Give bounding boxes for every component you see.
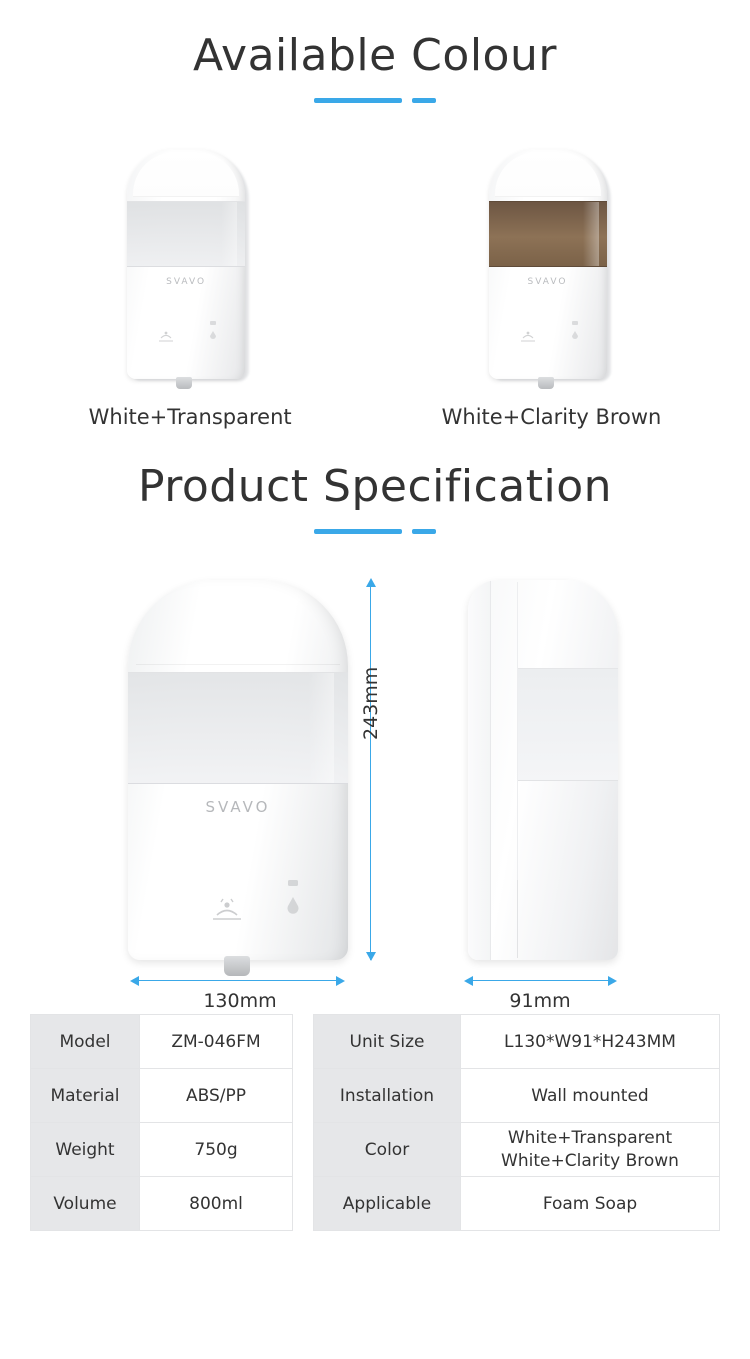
table-cell-key: Material [31, 1069, 140, 1123]
colour-variant-white-clarity-brown: SVAVO White+Clarity Brown [442, 149, 662, 429]
window-gloss [308, 673, 334, 783]
brand-logo-text: SVAVO [489, 277, 607, 287]
height-dimension-line [370, 582, 371, 960]
height-dimension-label: 243mm [360, 667, 382, 740]
colour-caption: White+Clarity Brown [442, 405, 662, 429]
brand-logo-text: SVAVO [127, 277, 245, 287]
table-cell-key: Weight [31, 1123, 140, 1177]
led-indicator-icon [286, 880, 300, 922]
specification-tables: Model ZM-046FM Material ABS/PP Weight 75… [0, 1014, 750, 1231]
dispenser-nozzle [176, 377, 192, 389]
available-colour-section: Available Colour SVAVO [0, 0, 750, 429]
led-indicator-icon [571, 321, 579, 343]
table-cell-key: Model [31, 1015, 140, 1069]
dispenser-image-white-clarity-brown: SVAVO [487, 149, 617, 385]
table-row: Weight 750g [31, 1123, 293, 1177]
table-row: Color White+Transparent White+Clarity Br… [314, 1123, 720, 1177]
underline-long-bar [314, 98, 402, 103]
side-window-panel [518, 668, 618, 780]
dispenser-top-cap [495, 152, 601, 197]
arrow-left-icon [464, 976, 473, 986]
table-cell-value: ABS/PP [140, 1069, 293, 1123]
dispenser-top-cap [136, 584, 340, 665]
front-width-dimension-line [134, 980, 340, 981]
table-cell-key: Applicable [314, 1177, 461, 1231]
dispenser-nozzle [224, 956, 250, 976]
side-seam-top [518, 668, 618, 669]
table-row: Applicable Foam Soap [314, 1177, 720, 1231]
color-option-2: White+Clarity Brown [467, 1150, 713, 1173]
page-title-available-colour: Available Colour [0, 34, 750, 78]
table-cell-key: Unit Size [314, 1015, 461, 1069]
front-width-dimension-label: 130mm [150, 990, 330, 1012]
table-cell-value: 800ml [140, 1177, 293, 1231]
table-cell-key: Installation [314, 1069, 461, 1123]
spec-table-left: Model ZM-046FM Material ABS/PP Weight 75… [30, 1014, 293, 1231]
dispenser-top-cap [133, 152, 239, 197]
title-underline-colour [0, 98, 750, 103]
dispenser-body-side [468, 580, 618, 960]
table-row: Material ABS/PP [31, 1069, 293, 1123]
dispenser-body: SVAVO [489, 149, 607, 379]
product-specification-section: Product Specification SVAVO [0, 429, 750, 1231]
table-cell-value: 750g [140, 1123, 293, 1177]
dispenser-window [489, 201, 607, 267]
table-cell-value-multiline: White+Transparent White+Clarity Brown [461, 1123, 720, 1177]
side-width-dimension-label: 91mm [470, 990, 610, 1012]
title-underline-spec [0, 529, 750, 534]
arrow-up-icon [366, 578, 376, 587]
page-title-product-specification: Product Specification [0, 465, 750, 509]
table-row: Unit Size L130*W91*H243MM [314, 1015, 720, 1069]
table-cell-value: ZM-046FM [140, 1015, 293, 1069]
underline-short-bar [412, 529, 436, 534]
underline-short-bar [412, 98, 436, 103]
hand-sensor-icon [210, 896, 244, 930]
table-row: Volume 800ml [31, 1177, 293, 1231]
arrow-left-icon [130, 976, 139, 986]
dispenser-nozzle [538, 377, 554, 389]
window-gloss [221, 202, 237, 266]
arrow-right-icon [608, 976, 617, 986]
table-cell-value: Wall mounted [461, 1069, 720, 1123]
color-option-1: White+Transparent [467, 1127, 713, 1150]
hand-sensor-icon [519, 329, 537, 345]
spec-drawing-area: SVAVO 243mm [0, 568, 750, 1008]
window-gloss [583, 202, 599, 266]
table-cell-value: L130*W91*H243MM [461, 1015, 720, 1069]
table-cell-key: Volume [31, 1177, 140, 1231]
colour-variant-row: SVAVO White+Transparent SVAVO [0, 149, 750, 429]
table-cell-value: Foam Soap [461, 1177, 720, 1231]
dispenser-side-view [468, 580, 618, 970]
side-seam-lower [517, 880, 518, 958]
underline-long-bar [314, 529, 402, 534]
table-row: Installation Wall mounted [314, 1069, 720, 1123]
hand-sensor-icon [157, 329, 175, 345]
led-indicator-icon [209, 321, 217, 343]
dispenser-body: SVAVO [127, 149, 245, 379]
side-seam-bottom [518, 780, 618, 781]
colour-caption: White+Transparent [89, 405, 292, 429]
side-width-dimension-line [468, 980, 612, 981]
brand-logo-text: SVAVO [128, 798, 348, 816]
table-cell-key: Color [314, 1123, 461, 1177]
wall-backplate [468, 580, 491, 960]
table-row: Model ZM-046FM [31, 1015, 293, 1069]
dispenser-window [127, 201, 245, 267]
arrow-down-icon [366, 952, 376, 961]
spec-table-right: Unit Size L130*W91*H243MM Installation W… [313, 1014, 720, 1231]
dispenser-front-view: SVAVO [128, 580, 348, 970]
colour-variant-white-transparent: SVAVO White+Transparent [89, 149, 292, 429]
dispenser-image-white-transparent: SVAVO [125, 149, 255, 385]
arrow-right-icon [336, 976, 345, 986]
dispenser-window [128, 672, 348, 784]
